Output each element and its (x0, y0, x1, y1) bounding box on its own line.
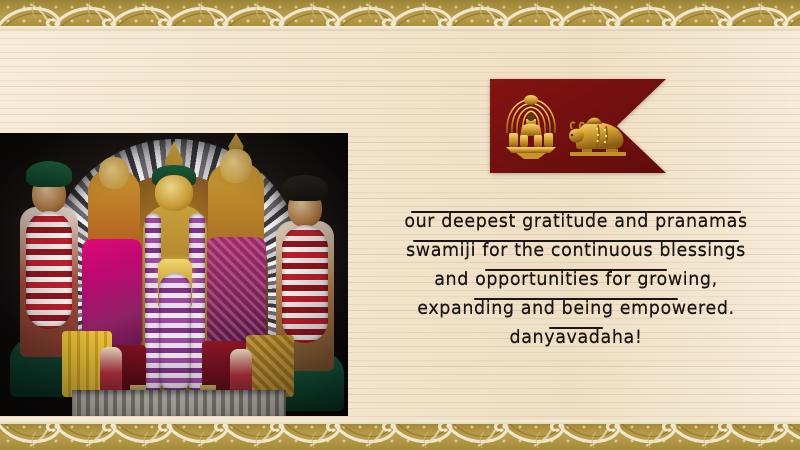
golden-deity-emblem-icon (502, 93, 560, 161)
gratitude-message: our deepest gratitude and pranamas swami… (352, 208, 800, 353)
golden-nandi-bull-emblem-icon (566, 107, 630, 159)
message-line-text: and opportunities for growing, (434, 270, 718, 290)
top-ornamental-border (0, 0, 800, 30)
message-line: our deepest gratitude and pranamas (404, 208, 747, 237)
message-line: and opportunities for growing, (434, 266, 718, 295)
message-line: danyavadaha! (510, 324, 643, 353)
scroll-pattern-icon (0, 420, 800, 450)
flower-garland (159, 273, 191, 393)
stone-pedestal (72, 390, 286, 416)
greeting-card: our deepest gratitude and pranamas swami… (0, 0, 800, 450)
gold-offering-cloth (246, 335, 294, 397)
message-line: expanding and being empowered. (417, 295, 734, 324)
message-line-text: danyavadaha! (510, 328, 643, 348)
message-line-text: our deepest gratitude and pranamas (404, 212, 747, 232)
deity-photograph (0, 133, 348, 416)
message-line: swamiji for the continuous blessings (406, 237, 746, 266)
maroon-swallowtail-flag (490, 79, 666, 173)
message-line-text: swamiji for the continuous blessings (406, 241, 746, 261)
message-line-text: expanding and being empowered. (417, 299, 734, 319)
bottom-ornamental-border (0, 420, 800, 450)
